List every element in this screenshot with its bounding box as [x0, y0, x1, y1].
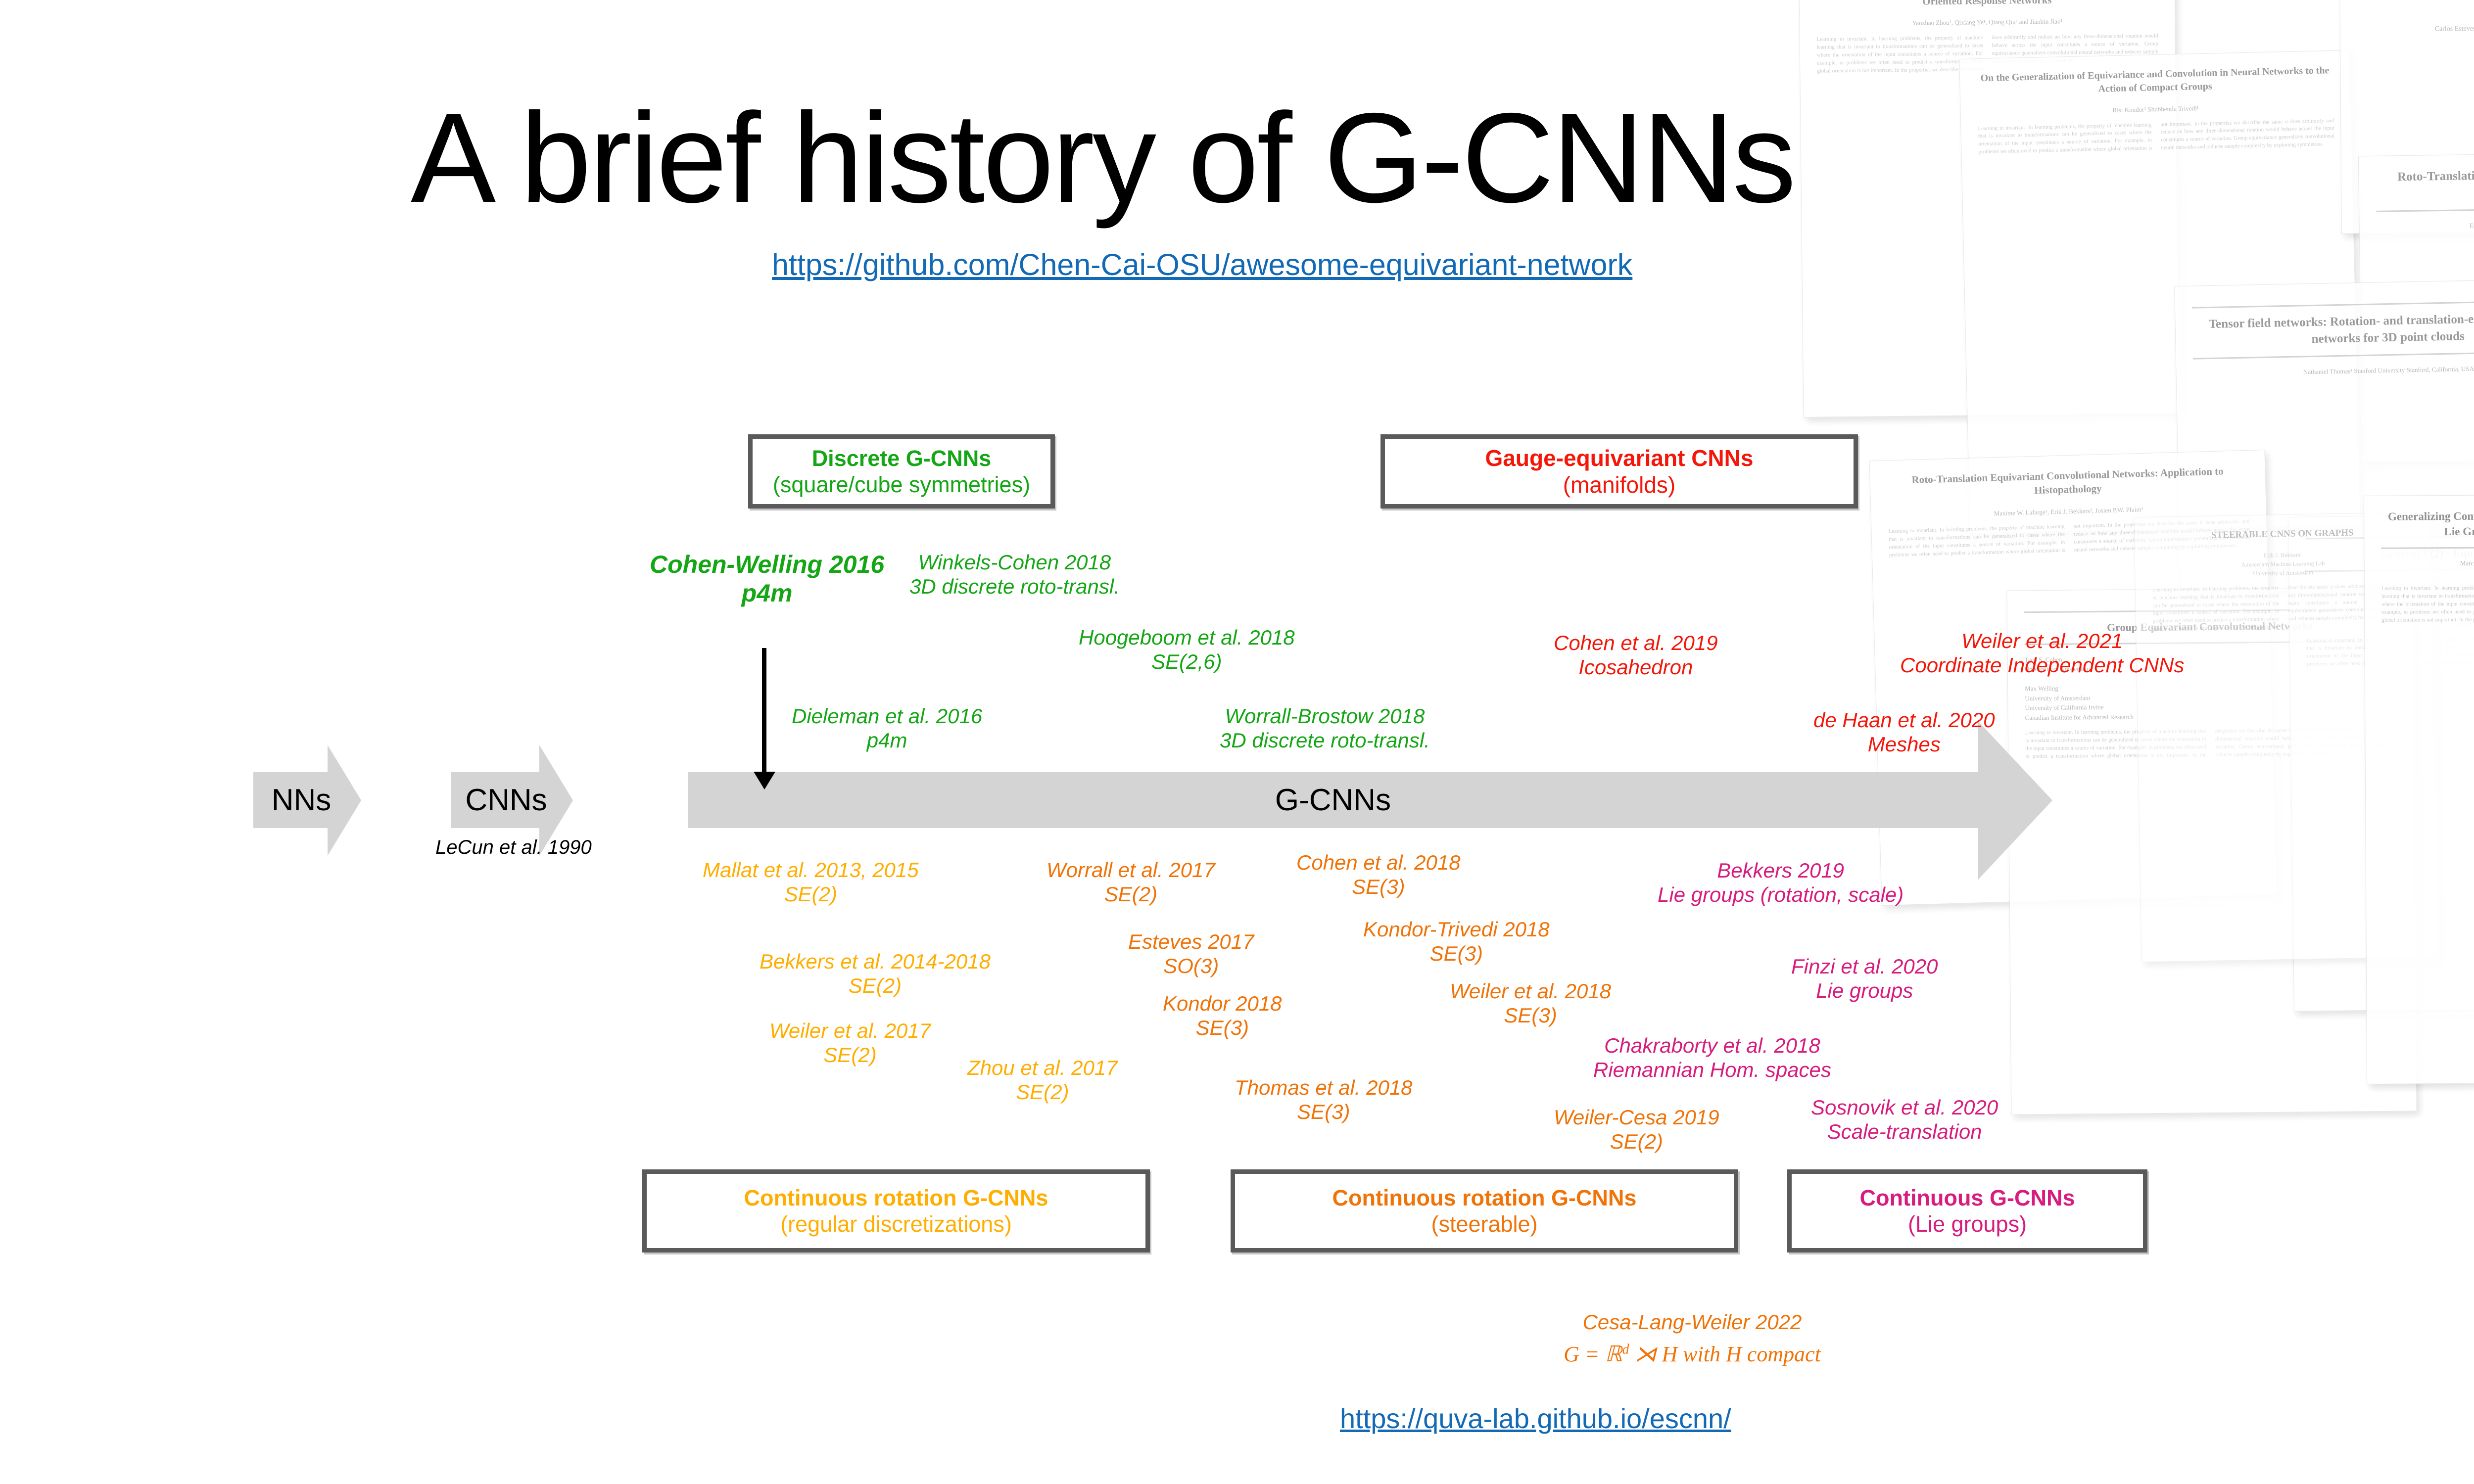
- paper-title: Roto-Translation Equivariant Convolution…: [1887, 464, 2248, 502]
- ref-dieleman-2016: Dieleman et al. 2016 p4m: [792, 704, 982, 752]
- caption-formula: G = ℝd ⋊ H with H compact: [1445, 1340, 1940, 1369]
- category-subtitle: (manifolds): [1563, 471, 1676, 498]
- category-subtitle: (square/cube symmetries): [773, 471, 1030, 498]
- category-box-gauge-equivariant-cnns[interactable]: Gauge-equivariant CNNs (manifolds): [1380, 434, 1858, 509]
- timeline-stage-label: G-CNNs: [1275, 783, 1391, 818]
- ref-bekkers-2014-2018: Bekkers et al. 2014-2018 SE(2): [760, 950, 991, 998]
- category-subtitle: (regular discretizations): [780, 1211, 1012, 1237]
- paper-rule: [2381, 546, 2474, 549]
- paper-title: Tensor field networks: Rotation- and tra…: [2192, 309, 2474, 350]
- ref-sosnovik-2020: Sosnovik et al. 2020 Scale-translation: [1811, 1096, 1998, 1144]
- cohen-welling-down-arrow-icon: [762, 648, 766, 772]
- ref-thomas-2018: Thomas et al. 2018 SE(3): [1235, 1076, 1413, 1124]
- ref-cohen-2018: Cohen et al. 2018 SE(3): [1296, 851, 1461, 899]
- ref-weiler-2018: Weiler et al. 2018 SE(3): [1450, 979, 1611, 1027]
- ref-bekkers-2019: Bekkers 2019 Lie groups (rotation, scale…: [1658, 859, 1903, 907]
- paper-thumbnail: Generalizing Convolutional Neural Networ…: [2364, 494, 2474, 1084]
- cesa-lang-weiler-caption: Cesa-Lang-Weiler 2022 G = ℝd ⋊ H with H …: [1445, 1308, 1940, 1369]
- ref-weiler-2017: Weiler et al. 2017 SE(2): [769, 1019, 931, 1067]
- paper-authors: Marc Finzi Samuel Stanton Pavel Izmailov…: [2381, 557, 2474, 578]
- paper-title: Roto-Translation Covariant Convolutional…: [2376, 164, 2474, 202]
- category-title: Gauge-equivariant CNNs: [1485, 445, 1754, 471]
- ref-weiler-2021: Weiler et al. 2021 Coordinate Independen…: [1900, 629, 2184, 677]
- paper-title: Learning SO(3) Equivariant Representatio…: [2357, 0, 2474, 15]
- ref-de-haan-2020: de Haan et al. 2020 Meshes: [1813, 708, 1995, 756]
- ref-esteves-2017: Esteves 2017 SO(3): [1128, 930, 1254, 978]
- ref-kondor-2018: Kondor 2018 SE(3): [1163, 992, 1282, 1040]
- category-box-discrete-gcnns[interactable]: Discrete G-CNNs (square/cube symmetries): [748, 434, 1055, 509]
- caption-name: Cesa-Lang-Weiler 2022: [1583, 1310, 1802, 1334]
- ref-worrall-brostow-2018: Worrall-Brostow 2018 3D discrete roto-tr…: [1220, 704, 1430, 752]
- ref-kondor-trivedi-2018: Kondor-Trivedi 2018 SE(3): [1363, 918, 1550, 966]
- ref-winkels-cohen-2018: Winkels-Cohen 2018 3D discrete roto-tran…: [909, 551, 1120, 599]
- category-title: Continuous G-CNNs: [1860, 1185, 2075, 1211]
- category-box-continuous-rotation-regular[interactable]: Continuous rotation G-CNNs (regular disc…: [642, 1169, 1150, 1252]
- ref-hoogeboom-2018: Hoogeboom et al. 2018 SE(2,6): [1079, 626, 1295, 674]
- page-title: A brief history of G-CNNs: [411, 84, 2251, 231]
- category-title: Discrete G-CNNs: [812, 445, 992, 471]
- ref-zhou-2017: Zhou et al. 2017 SE(2): [967, 1056, 1118, 1104]
- category-subtitle: (steerable): [1431, 1211, 1537, 1237]
- paper-authors: Carlos Esteves¹, Christine Allen-Blanche…: [2357, 22, 2474, 35]
- paper-rule: [2192, 299, 2474, 308]
- ref-lecun: LeCun et al. 1990: [435, 836, 592, 859]
- slide-root: Oriented Response Networks Yanzhao Zhou¹…: [0, 0, 2474, 1484]
- ref-cohen-welling-2016: Cohen-Welling 2016 p4m: [650, 550, 884, 607]
- category-title: Continuous rotation G-CNNs: [744, 1185, 1048, 1211]
- timeline-stage-label: CNNs: [465, 783, 547, 818]
- paper-title: Generalizing Convolutional Neural Networ…: [2381, 507, 2474, 540]
- category-subtitle: (Lie groups): [1908, 1211, 2027, 1237]
- paper-authors: Yanzhao Zhou¹, Qixiang Ye¹, Qiang Qiu² a…: [1816, 16, 2158, 29]
- ref-mallat-2013-2015: Mallat et al. 2013, 2015 SE(2): [703, 858, 919, 906]
- ref-weiler-cesa-2019: Weiler-Cesa 2019 SE(2): [1554, 1106, 1719, 1154]
- paper-rule: [2376, 206, 2474, 212]
- escnn-docs-link[interactable]: https://quva-lab.github.io/escnn/: [1340, 1402, 1731, 1435]
- paper-title: Oriented Response Networks: [1816, 0, 2158, 9]
- timeline-stage-gcnns[interactable]: G-CNNs: [688, 772, 1978, 828]
- ref-cohen-2019: Cohen et al. 2019 Icosahedron: [1554, 631, 1718, 679]
- ref-chakraborty-2018: Chakraborty et al. 2018 Riemannian Hom. …: [1593, 1034, 1831, 1082]
- ref-finzi-2020: Finzi et al. 2020 Lie groups: [1791, 955, 1938, 1003]
- timeline-stage-nns[interactable]: NNs: [253, 772, 328, 828]
- paper-authors: Nathaniel Thomas¹ Stanford University St…: [2193, 362, 2474, 379]
- category-box-continuous-rotation-steerable[interactable]: Continuous rotation G-CNNs (steerable): [1231, 1169, 1738, 1252]
- paper-authors: Erik J. Bekkers¹, Maxime W. Lafarge², Ko…: [2377, 217, 2474, 232]
- category-title: Continuous rotation G-CNNs: [1332, 1185, 1637, 1211]
- timeline-stage-cnns[interactable]: CNNs: [451, 772, 539, 828]
- paper-rule: [2193, 350, 2474, 359]
- category-box-continuous-lie-groups[interactable]: Continuous G-CNNs (Lie groups): [1787, 1169, 2147, 1252]
- ref-worrall-2017: Worrall et al. 2017 SE(2): [1047, 858, 1215, 906]
- paper-body: Learning to invariant. In learning probl…: [2381, 583, 2474, 624]
- github-awesome-equivariant-link[interactable]: https://github.com/Chen-Cai-OSU/awesome-…: [772, 247, 1632, 282]
- timeline-stage-label: NNs: [272, 783, 332, 818]
